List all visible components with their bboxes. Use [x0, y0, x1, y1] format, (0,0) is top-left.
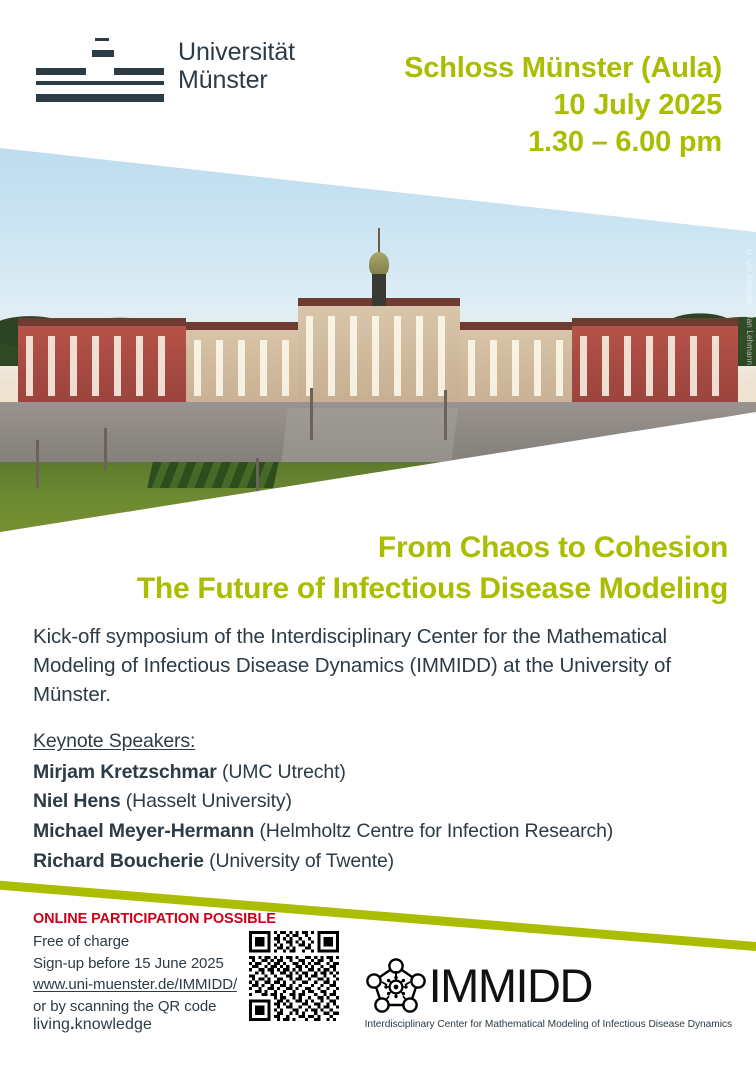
speaker-name: Michael Meyer-Hermann	[33, 820, 254, 842]
event-date: 10 July 2025	[404, 87, 722, 124]
online-participation-note: ONLINE PARTICIPATION POSSIBLE	[33, 911, 276, 927]
registration-info: ONLINE PARTICIPATION POSSIBLE Free of ch…	[33, 911, 276, 1017]
immidd-wordmark: IMMIDD	[429, 964, 592, 1009]
immidd-network-virus-icon	[365, 958, 427, 1014]
speaker-affiliation: (University of Twente)	[209, 850, 394, 872]
poster-header: Universität Münster Schloss Münster (Aul…	[0, 0, 756, 150]
uni-muenster-bars-logo-icon	[36, 30, 164, 102]
title-line-1: From Chaos to Cohesion	[137, 528, 728, 569]
living-knowledge-tagline: living.knowledge	[33, 1016, 152, 1034]
university-logo: Universität Münster	[36, 30, 295, 102]
immidd-caption: Interdisciplinary Center for Mathematica…	[365, 1019, 732, 1030]
photo-credit: © Uni Münster – Jan Lehmann	[745, 248, 754, 365]
speaker-name: Richard Boucherie	[33, 850, 204, 872]
tagline-main: living	[33, 1016, 70, 1033]
free-of-charge-note: Free of charge	[33, 931, 276, 953]
hero-photo: © Uni Münster – Jan Lehmann	[0, 140, 756, 540]
speaker-affiliation: (UMC Utrecht)	[222, 761, 346, 783]
event-time: 1.30 – 6.00 pm	[404, 124, 722, 161]
university-name-line1: Universität	[178, 38, 295, 66]
photo-palace-tower	[366, 240, 392, 306]
registration-url-link[interactable]: www.uni-muenster.de/IMMIDD/	[33, 974, 276, 996]
list-item: Niel Hens (Hasselt University)	[33, 787, 733, 817]
event-details: Schloss Münster (Aula) 10 July 2025 1.30…	[404, 50, 722, 161]
university-wordmark: Universität Münster	[178, 38, 295, 94]
photo-palace	[18, 290, 738, 418]
speaker-affiliation: (Helmholtz Centre for Infection Research…	[259, 820, 613, 842]
list-item: Michael Meyer-Hermann (Helmholtz Centre …	[33, 817, 733, 847]
title-line-2: The Future of Infectious Disease Modelin…	[137, 569, 728, 610]
university-name-line2: Münster	[178, 66, 295, 94]
speaker-name: Niel Hens	[33, 790, 121, 812]
speaker-name: Mirjam Kretzschmar	[33, 761, 217, 783]
page-title: From Chaos to Cohesion The Future of Inf…	[137, 528, 728, 610]
signup-deadline: Sign-up before 15 June 2025	[33, 953, 276, 975]
poster-root: Universität Münster Schloss Münster (Aul…	[0, 0, 756, 1069]
keynote-speakers-heading: Keynote Speakers:	[33, 727, 195, 757]
speaker-affiliation: (Hasselt University)	[126, 790, 292, 812]
keynote-speakers-section: Keynote Speakers: Mirjam Kretzschmar (UM…	[33, 727, 733, 876]
list-item: Mirjam Kretzschmar (UMC Utrecht)	[33, 758, 733, 788]
qr-hint-text: or by scanning the QR code	[33, 996, 276, 1018]
photo-hedges	[147, 462, 279, 488]
symposium-description: Kick-off symposium of the Interdisciplin…	[33, 622, 693, 709]
qr-code-icon[interactable]	[248, 931, 340, 1021]
tagline-rest: knowledge	[75, 1016, 152, 1033]
event-venue: Schloss Münster (Aula)	[404, 50, 722, 87]
immidd-logo-block: IMMIDD Interdisciplinary Center for Math…	[365, 958, 732, 1030]
list-item: Richard Boucherie (University of Twente)	[33, 847, 733, 877]
